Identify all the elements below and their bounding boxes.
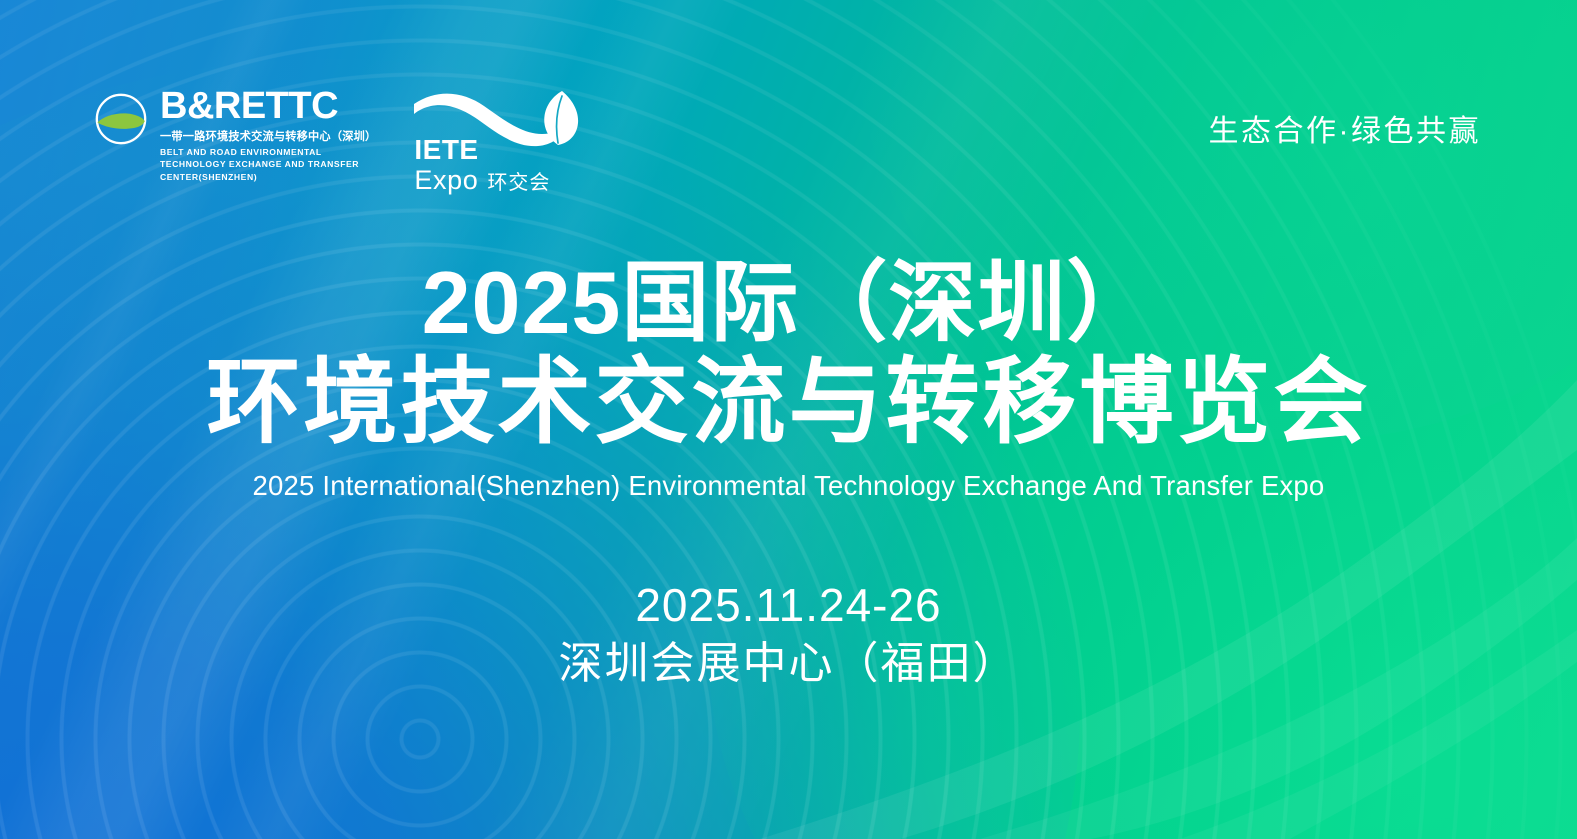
event-details: 2025.11.24-26 深圳会展中心（福田） [0,578,1577,691]
page-title-line-1: 2025国际（深圳） [0,255,1577,350]
brettc-chinese-name: 一带一路环境技术交流与转移中心（深圳） [160,130,376,144]
brettc-wordmark: B&RETTC [160,88,376,125]
brettc-english-line-2: TECHNOLOGY EXCHANGE AND TRANSFER [160,158,376,170]
iete-chinese-label: 环交会 [487,173,550,193]
iete-subline: Expo 环交会 [414,167,550,194]
brettc-logo: B&RETTC 一带一路环境技术交流与转移中心（深圳） BELT AND ROA… [92,88,376,183]
iete-wordmark: IETE [414,136,550,164]
logo-lockup: B&RETTC 一带一路环境技术交流与转移中心（深圳） BELT AND ROA… [92,88,580,194]
iete-expo-label: Expo [414,167,478,194]
page-title-line-2: 环境技术交流与转移博览会 [0,352,1577,452]
iete-expo-logo: IETE Expo 环交会 [412,90,580,194]
banner-header: B&RETTC 一带一路环境技术交流与转移中心（深圳） BELT AND ROA… [0,0,1577,210]
event-banner: B&RETTC 一带一路环境技术交流与转移中心（深圳） BELT AND ROA… [0,0,1577,839]
banner-main: 2025国际（深圳） 环境技术交流与转移博览会 2025 Internation… [0,255,1577,691]
iete-wordmark-block: IETE Expo 环交会 [414,136,550,194]
brettc-text-block: B&RETTC 一带一路环境技术交流与转移中心（深圳） BELT AND ROA… [160,88,376,183]
brettc-english-line-1: BELT AND ROAD ENVIRONMENTAL [160,146,376,158]
event-venue: 深圳会展中心（福田） [0,638,1577,691]
globe-circle-icon [92,90,150,148]
brettc-english-line-3: CENTER(SHENZHEN) [160,171,376,183]
event-slogan: 生态合作·绿色共赢 [1209,106,1482,150]
event-date: 2025.11.24-26 [0,578,1577,632]
brettc-english-name: BELT AND ROAD ENVIRONMENTAL TECHNOLOGY E… [160,146,376,183]
page-subtitle-english: 2025 International(Shenzhen) Environment… [0,470,1577,502]
